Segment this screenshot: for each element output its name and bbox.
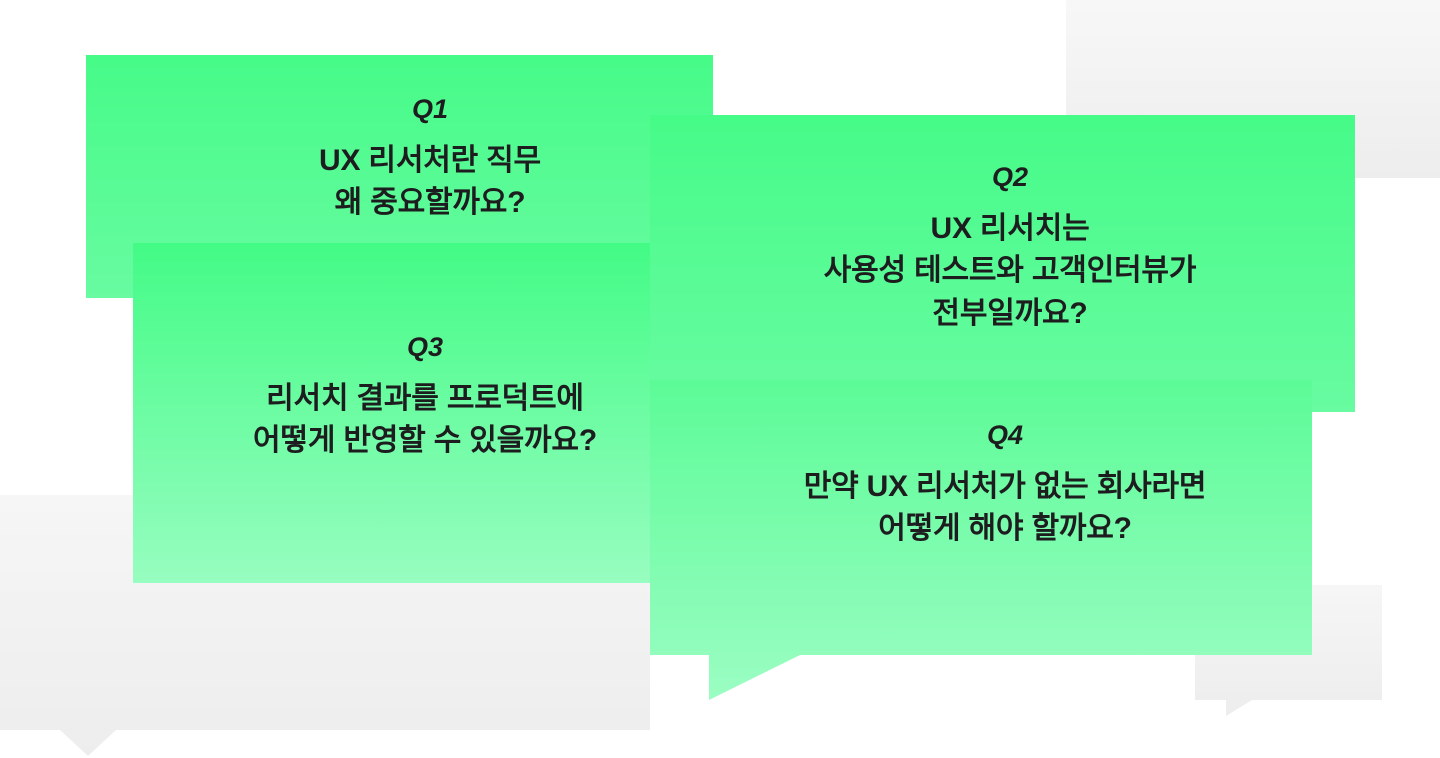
bubble-label-q2: Q2 <box>700 160 1320 196</box>
bubble-body-q2: UX 리서치는 사용성 테스트와 고객인터뷰가 전부일까요? <box>700 208 1320 336</box>
bubble-text-q3: Q3 리서치 결과를 프로덕트에 어떻게 반영할 수 있을까요? <box>130 330 720 463</box>
bubble-text-q2: Q2 UX 리서치는 사용성 테스트와 고객인터뷰가 전부일까요? <box>700 160 1320 335</box>
bubble-body-q4: 만약 UX 리서처가 없는 회사라면 어떻게 해야 할까요? <box>690 466 1320 551</box>
slide-canvas: Q1 UX 리서처란 직무 왜 중요할까요? Q2 UX 리서치는 사용성 테스… <box>0 0 1440 758</box>
bubble-label-q4: Q4 <box>690 418 1320 454</box>
bubble-body-q3: 리서치 결과를 프로덕트에 어떻게 반영할 수 있을까요? <box>130 378 720 463</box>
bubble-label-q3: Q3 <box>130 330 720 366</box>
bubble-text-q4: Q4 만약 UX 리서처가 없는 회사라면 어떻게 해야 할까요? <box>690 418 1320 551</box>
bubble-label-q1: Q1 <box>130 92 730 128</box>
bubble-text-q1: Q1 UX 리서처란 직무 왜 중요할까요? <box>130 92 730 225</box>
bubble-body-q1: UX 리서처란 직무 왜 중요할까요? <box>130 140 730 225</box>
